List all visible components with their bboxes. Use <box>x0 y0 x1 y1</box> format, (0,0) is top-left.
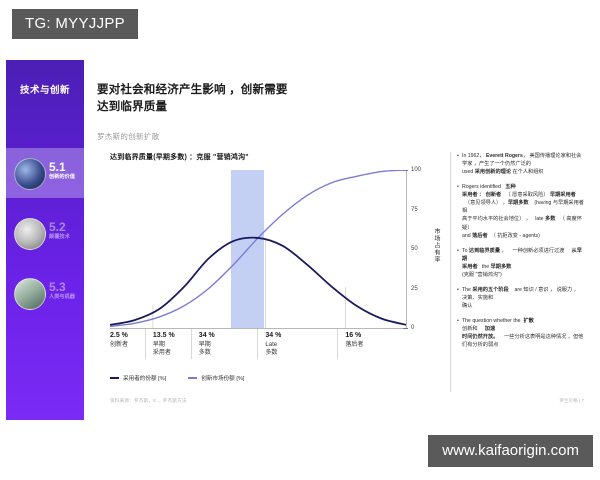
x-label-divider-3 <box>257 329 258 359</box>
x-label-pct-4: 16 % <box>345 332 363 339</box>
sidebar-item-5-1[interactable]: 5.1 创新的价值 <box>6 148 84 198</box>
chapter-thumb-technology-icon <box>14 218 46 250</box>
chapter-thumb-innovation-icon <box>14 158 46 190</box>
sidebar-item-5-1-number: 5.1 <box>49 161 66 173</box>
x-label-divider-2 <box>191 329 192 359</box>
slide-canvas: 技术与创新 5.1 创新的价值 5.2 颠覆技术 5.3 人类与机器 要对社会和… <box>0 60 600 420</box>
x-label-pct-0: 2.5 % <box>110 332 128 339</box>
note-adopter-categories: Rogers identified 五种采用者 ： 创新者 （ 愿意采取风险） … <box>457 183 586 239</box>
x-label-name-1: 早期 采用者 <box>153 341 175 357</box>
note-question-diffusion: The question whether the 扩散创新和 加速时间仍然开放。… <box>457 317 586 349</box>
diffusion-chart: 达到临界质量(早期多数) ：克服 "营销鸿沟" 0255075100 市场占有率… <box>110 152 440 397</box>
x-label-group-4: 16 %落后者 <box>345 332 363 349</box>
chart-legend: 采用者的份额 [%]创新市场份额 [%] <box>110 374 244 382</box>
sidebar-title: 技术与创新 <box>6 82 84 96</box>
x-axis-labels: 2.5 %创新者13.5 %早期 采用者34 %早期 多数34 %Late 多数… <box>110 332 440 367</box>
legend-label-0: 采用者的份额 [%] <box>123 374 166 382</box>
y-tick-0: 0 <box>411 325 414 331</box>
sidebar-item-5-2-label: 颠覆技术 <box>49 234 83 240</box>
x-label-name-4: 落后者 <box>345 341 363 349</box>
note-rogers-1962: In 1962， Everett Rogers， 美国传播理论家和社会学家 ，产… <box>457 152 586 176</box>
note-five-stages: The 采用的五个阶段 are 知识 / 意识 ， 说服力 ，决策、实施和确认 <box>457 286 586 310</box>
y-tick-mark-100 <box>403 170 408 171</box>
y-axis-label: 市场占有率 <box>432 228 441 263</box>
sidebar-item-5-3[interactable]: 5.3 人类与机器 <box>6 268 84 318</box>
x-label-name-3: Late 多数 <box>265 341 281 357</box>
chart-plot-area: 0255075100 市场占有率 <box>110 170 406 328</box>
note-critical-mass: To 达到临界质量 ， 一种创新必须进行过渡 从早期采用者 the 早期多数(克… <box>457 247 586 279</box>
x-label-group-3: 34 %Late 多数 <box>265 332 281 357</box>
legend-label-1: 创新市场份额 [%] <box>201 374 244 382</box>
chapter-sidebar: 技术与创新 5.1 创新的价值 5.2 颠覆技术 5.3 人类与机器 <box>6 60 84 420</box>
legend-item-0: 采用者的份额 [%] <box>110 374 166 382</box>
x-label-pct-2: 34 % <box>199 332 215 339</box>
y-tick-50: 50 <box>411 246 418 252</box>
notes-panel: In 1962， Everett Rogers， 美国传播理论家和社会学家 ，产… <box>450 152 586 392</box>
x-label-group-2: 34 %早期 多数 <box>199 332 215 357</box>
sidebar-item-5-2-number: 5.2 <box>49 221 66 233</box>
sidebar-item-5-1-label: 创新的价值 <box>49 174 83 180</box>
x-label-divider-4 <box>337 329 338 359</box>
telegram-watermark-tag: TG: MYYJJPP <box>12 9 138 39</box>
y-tick-mark-0 <box>403 328 408 329</box>
slide-content: 要对社会和经济产生影响 ，创新需要 达到临界质量 罗杰斯的创新扩散 达到临界质量… <box>92 60 592 420</box>
sidebar-item-5-2[interactable]: 5.2 颠覆技术 <box>6 208 84 258</box>
adopter-share-curve <box>110 238 406 325</box>
source-note: 资料来源：罗杰斯，E.，罗杰斯方法 <box>110 398 187 404</box>
x-label-divider-1 <box>145 329 146 359</box>
y-axis-line <box>406 170 407 328</box>
x-label-pct-1: 13.5 % <box>153 332 175 339</box>
x-label-name-2: 早期 多数 <box>199 341 215 357</box>
y-tick-100: 100 <box>411 167 421 173</box>
sidebar-item-5-3-label: 人类与机器 <box>49 294 83 300</box>
sidebar-item-5-3-number: 5.3 <box>49 281 66 293</box>
chapter-thumb-machine-icon <box>14 278 46 310</box>
page-note: 罗兰贝格 | 7 <box>559 398 584 404</box>
x-label-name-0: 创新者 <box>110 341 128 349</box>
chart-title: 达到临界质量(早期多数) ：克服 "营销鸿沟" <box>110 152 249 162</box>
site-url-watermark: www.kaifaorigin.com <box>428 435 593 467</box>
legend-swatch-1 <box>188 377 197 379</box>
x-label-group-1: 13.5 %早期 采用者 <box>153 332 175 357</box>
chart-curves <box>110 170 406 328</box>
page-subtitle: 罗杰斯的创新扩散 <box>97 131 159 142</box>
y-tick-25: 25 <box>411 286 418 292</box>
legend-item-1: 创新市场份额 [%] <box>188 374 244 382</box>
x-label-group-0: 2.5 %创新者 <box>110 332 128 349</box>
legend-swatch-0 <box>110 377 119 379</box>
y-tick-75: 75 <box>411 207 418 213</box>
x-label-pct-3: 34 % <box>265 332 281 339</box>
page-title: 要对社会和经济产生影响 ，创新需要 达到临界质量 <box>97 82 397 115</box>
cumulative-share-curve <box>110 170 406 326</box>
